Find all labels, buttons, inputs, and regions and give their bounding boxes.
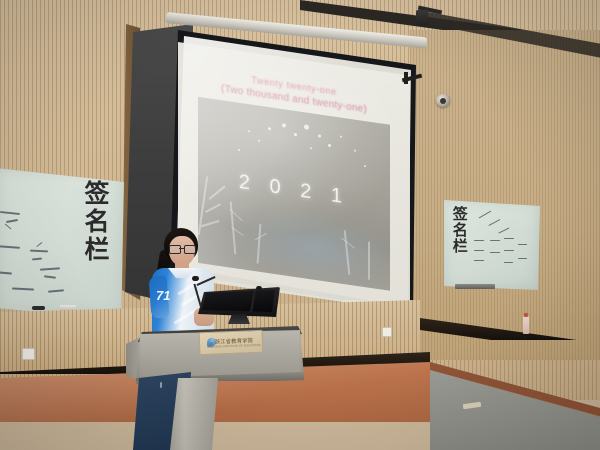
whiteboard-marker[interactable] [32,306,45,310]
microphone-icon[interactable] [192,276,199,281]
camera-lens-icon [440,98,446,104]
water-bottle[interactable] [523,316,529,334]
whiteboard-right-tray [455,284,495,289]
wall-outlet-icon[interactable] [22,348,35,360]
whiteboard-left: 签名栏 [0,168,124,316]
eyeglasses-icon [169,245,195,253]
projector-icon [416,10,428,26]
podium-panel-lock-icon [160,382,162,388]
podium-plaque: 浙江省教育学院 ZHEJIANG INSTITUTE OF EDUCATION [199,330,264,355]
lecture-hall-photo: 签名栏 签名栏 [0,0,600,450]
podium-column [170,378,218,450]
whiteboard-left-heading: 签名栏 [81,180,111,264]
monitor-screen [202,290,275,312]
wall-outlet-right-icon[interactable] [382,327,392,337]
plaque-name-en: ZHEJIANG INSTITUTE OF EDUCATION [207,344,260,349]
whiteboard-right: 签名栏 [444,200,540,290]
water-bottle-cap [524,313,528,317]
speaker-person: 71 [150,228,220,338]
wall-bracket-post-icon [404,72,408,84]
wall-right-section [410,30,600,360]
slide-year-text: 2 0 2 1 [198,165,390,216]
microphone-secondary-icon[interactable] [256,286,262,291]
shirt-number: 71 [156,288,178,308]
slide-photo: 2 0 2 1 [198,97,390,291]
whiteboard-right-heading: 签名栏 [450,206,468,254]
